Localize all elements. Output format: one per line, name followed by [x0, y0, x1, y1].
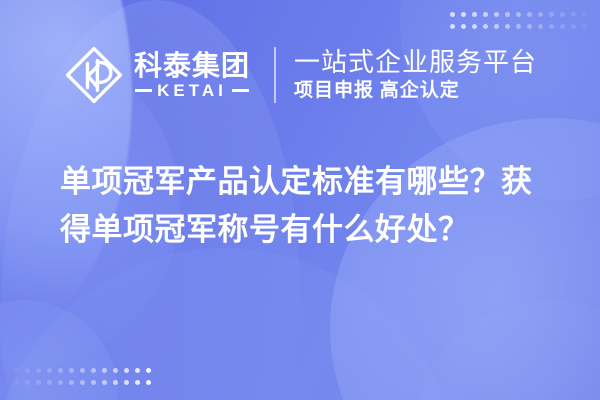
decorative-dot	[582, 12, 587, 17]
promo-banner: 科泰集团 KETAI 一站式企业服务平台 项目申报 高企认定 单项冠军产品认定标…	[0, 0, 600, 400]
logo-chinese-name: 科泰集团	[134, 52, 250, 80]
logo-rule-left	[135, 89, 152, 92]
decorative-dot	[582, 24, 587, 29]
headline: 单项冠军产品认定标准有哪些？获 得单项冠军称号有什么好处？	[60, 158, 552, 254]
decorative-dot	[538, 12, 543, 17]
decorative-dot	[494, 12, 499, 17]
decorative-dot	[461, 24, 466, 29]
decorative-dot	[538, 24, 543, 29]
decorative-dot	[483, 24, 488, 29]
decorative-dot	[516, 12, 521, 17]
tagline-primary: 一站式企业服务平台	[294, 48, 537, 77]
decorative-dot	[560, 24, 565, 29]
decorative-dot	[527, 24, 532, 29]
logo-english-name: KETAI	[157, 82, 227, 99]
background-blob-bottom-right	[420, 300, 600, 400]
decorative-dot	[494, 24, 499, 29]
header-divider	[274, 47, 276, 103]
tagline-secondary: 项目申报 高企认定	[294, 80, 537, 102]
decorative-dot	[516, 24, 521, 29]
banner-header: 科泰集团 KETAI 一站式企业服务平台 项目申报 高企认定	[0, 44, 600, 106]
logo-rule-right	[232, 89, 249, 92]
logo-wordmark: 科泰集团 KETAI	[134, 52, 250, 99]
company-logo: 科泰集团 KETAI	[63, 44, 250, 106]
decorative-dot	[560, 12, 565, 17]
decorative-dot-grid-top-right	[450, 12, 587, 29]
headline-line-1: 单项冠军产品认定标准有哪些？获	[60, 158, 552, 206]
decorative-dot	[483, 12, 488, 17]
decorative-dot	[472, 24, 477, 29]
decorative-dot	[472, 12, 477, 17]
decorative-dot	[505, 12, 510, 17]
decorative-dot	[549, 12, 554, 17]
decorative-dot	[527, 12, 532, 17]
decorative-dot	[461, 12, 466, 17]
logo-english-row: KETAI	[134, 82, 250, 99]
decorative-dot	[450, 12, 455, 17]
decorative-dot	[571, 24, 576, 29]
decorative-dot	[571, 12, 576, 17]
decorative-dot	[549, 24, 554, 29]
decorative-dot	[450, 24, 455, 29]
tagline-block: 一站式企业服务平台 项目申报 高企认定	[294, 48, 537, 102]
decorative-dot	[505, 24, 510, 29]
ketai-diamond-kp-monogram-icon	[63, 44, 125, 106]
headline-line-2: 得单项冠军称号有什么好处？	[60, 206, 552, 254]
